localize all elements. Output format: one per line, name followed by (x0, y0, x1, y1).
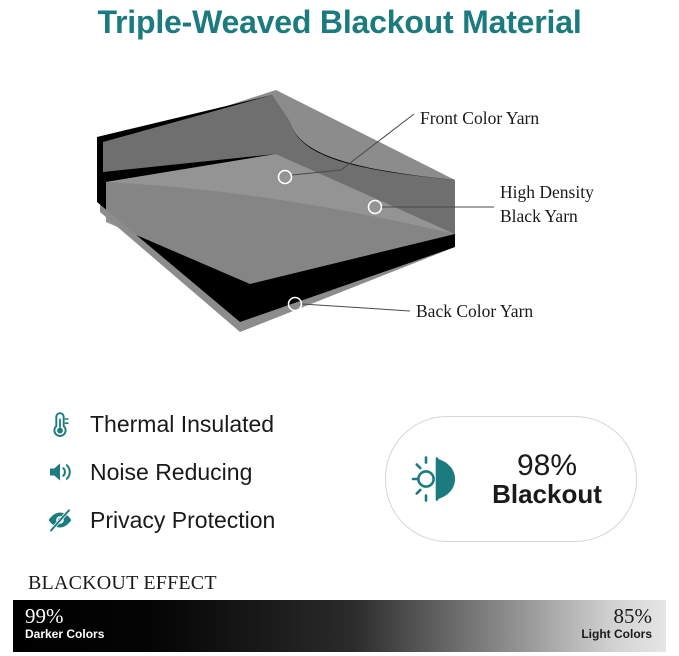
effect-left-caption: Darker Colors (25, 628, 104, 642)
effect-left-percent: 99% (25, 604, 104, 628)
eye-slash-icon (44, 504, 76, 536)
feature-noise-reducing: Noise Reducing (44, 450, 374, 494)
blackout-percent: 98% (468, 450, 626, 482)
callout-back-color-yarn: Back Color Yarn (289, 298, 534, 322)
feature-label-thermal: Thermal Insulated (90, 411, 274, 438)
effect-right-caption: Light Colors (581, 628, 652, 642)
callout-label-black-line2: Black Yarn (500, 206, 578, 226)
effect-right-group: 85% Light Colors (581, 604, 652, 642)
feature-list: Thermal Insulated Noise Reducing Privacy… (44, 402, 374, 546)
page-title: Triple-Weaved Blackout Material (0, 4, 679, 41)
effect-right-percent: 85% (581, 604, 652, 628)
blackout-word: Blackout (468, 481, 626, 508)
callout-label-back: Back Color Yarn (416, 301, 533, 321)
blackout-badge-text: 98% Blackout (468, 450, 636, 509)
effect-left-group: 99% Darker Colors (25, 604, 104, 642)
callout-label-front: Front Color Yarn (420, 108, 539, 128)
fabric-layers-diagram: Front Color Yarn High Density Black Yarn… (0, 62, 679, 362)
speaker-icon (44, 456, 76, 488)
feature-label-noise: Noise Reducing (90, 459, 252, 486)
blackout-effect-title: BLACKOUT EFFECT (28, 572, 217, 595)
sun-block-icon (408, 452, 462, 506)
thermometer-icon (44, 408, 76, 440)
feature-privacy-protection: Privacy Protection (44, 498, 374, 542)
feature-label-privacy: Privacy Protection (90, 507, 275, 534)
feature-thermal-insulated: Thermal Insulated (44, 402, 374, 446)
callout-label-black-line1: High Density (500, 182, 594, 202)
blackout-effect-bar: 99% Darker Colors 85% Light Colors (13, 600, 666, 652)
blackout-badge: 98% Blackout (385, 416, 637, 542)
